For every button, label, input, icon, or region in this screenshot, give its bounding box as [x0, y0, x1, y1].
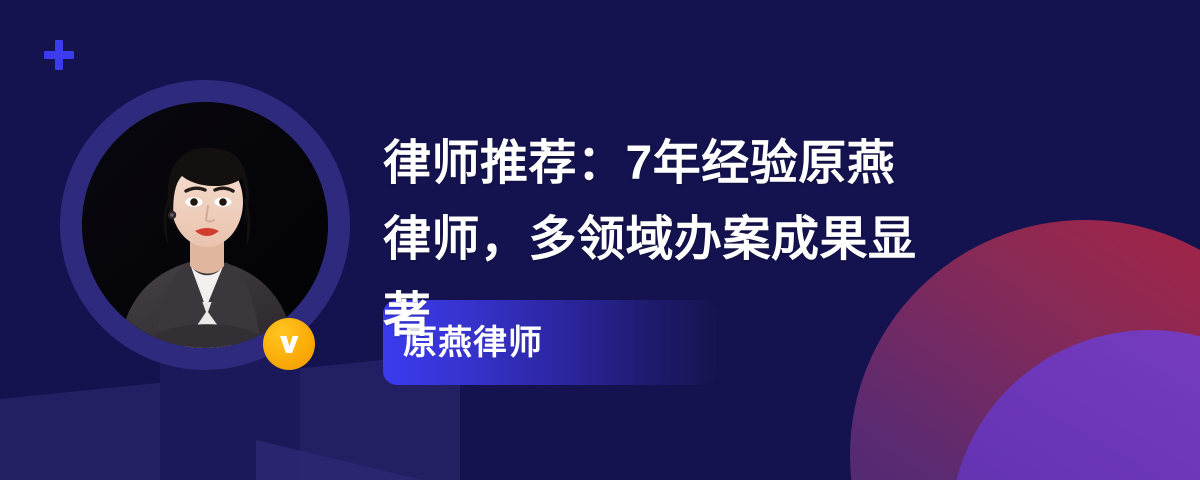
triangle-shape-bottom [256, 440, 676, 480]
avatar [60, 80, 350, 370]
avatar-photo [82, 102, 328, 348]
verified-badge-icon [263, 318, 315, 370]
lawyer-promo-banner: 原燕律师 律师推荐：7年经验原燕 律师，多领域办案成果显 著 [0, 0, 1200, 480]
page-title: 律师推荐：7年经验原燕 律师，多领域办案成果显 著 [383, 126, 1073, 354]
plus-icon [42, 38, 76, 72]
